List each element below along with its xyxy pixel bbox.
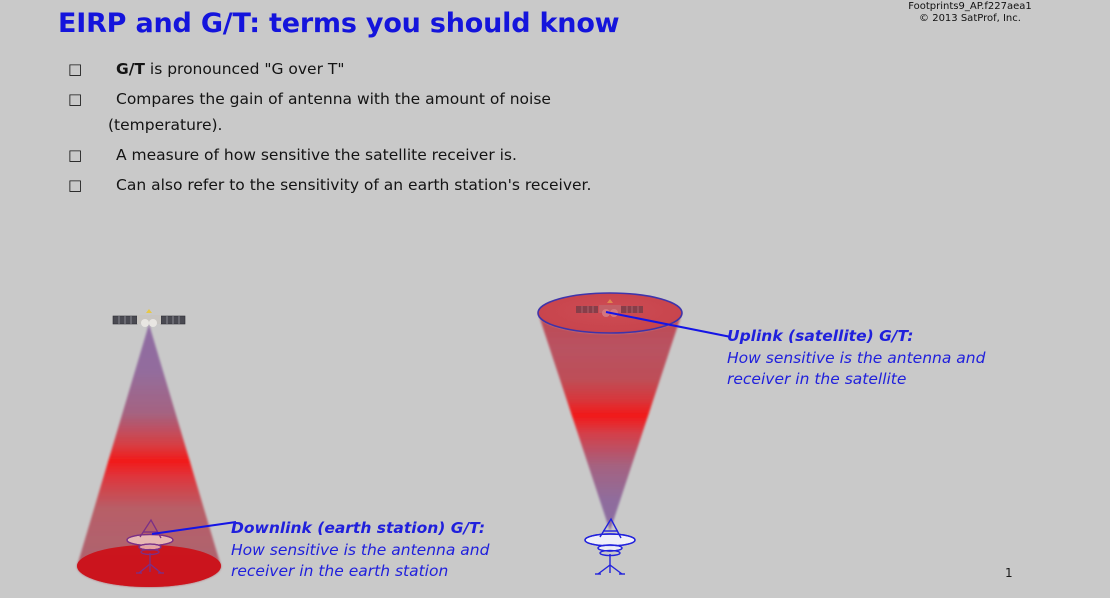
- uplink-annotation: Uplink (satellite) G/T: How sensitive is…: [727, 326, 985, 391]
- downlink-annotation-line-2: receiver in the earth station: [231, 561, 489, 583]
- list-item-rest: is pronounced "G over T": [145, 60, 345, 78]
- downlink-annotation-heading: Downlink (earth station) G/T:: [231, 518, 489, 540]
- list-item-text: A measure of how sensitive the satellite…: [108, 142, 622, 168]
- checkbox-marker: □: [68, 56, 82, 82]
- checkbox-marker: □: [68, 86, 82, 112]
- slide-canvas: Footprints9_AP.f227aea1 © 2013 SatProf, …: [0, 0, 1110, 598]
- list-item-text: Can also refer to the sensitivity of an …: [108, 172, 622, 198]
- list-item: □ A measure of how sensitive the satelli…: [62, 142, 622, 168]
- uplink-annotation-line-1: How sensitive is the antenna and: [727, 348, 985, 370]
- checkbox-marker: □: [68, 142, 82, 168]
- list-item: □ G/T is pronounced "G over T": [62, 56, 622, 82]
- checkbox-marker: □: [68, 172, 82, 198]
- downlink-footprint-lip: [77, 545, 221, 587]
- list-item: □ Compares the gain of antenna with the …: [62, 86, 622, 138]
- uplink-annotation-line-2: receiver in the satellite: [727, 369, 985, 391]
- bullet-list: □ G/T is pronounced "G over T" □ Compare…: [62, 56, 622, 202]
- uplink-beam-group: [538, 293, 682, 531]
- list-item-bold-lead: G/T: [116, 60, 145, 78]
- credit-block: Footprints9_AP.f227aea1 © 2013 SatProf, …: [840, 1, 1100, 25]
- credit-line-2: © 2013 SatProf, Inc.: [840, 13, 1100, 25]
- list-item-text: G/T is pronounced "G over T": [108, 56, 622, 82]
- page-number: 1: [1005, 566, 1013, 580]
- downlink-annotation-line-1: How sensitive is the antenna and: [231, 540, 489, 562]
- page-title: EIRP and G/T: terms you should know: [58, 8, 619, 39]
- uplink-annotation-heading: Uplink (satellite) G/T:: [727, 326, 985, 348]
- uplink-cone: [538, 313, 682, 531]
- list-item-text: Compares the gain of antenna with the am…: [108, 86, 622, 138]
- list-item: □ Can also refer to the sensitivity of a…: [62, 172, 622, 198]
- credit-line-1: Footprints9_AP.f227aea1: [840, 1, 1100, 13]
- downlink-annotation: Downlink (earth station) G/T: How sensit…: [231, 518, 489, 583]
